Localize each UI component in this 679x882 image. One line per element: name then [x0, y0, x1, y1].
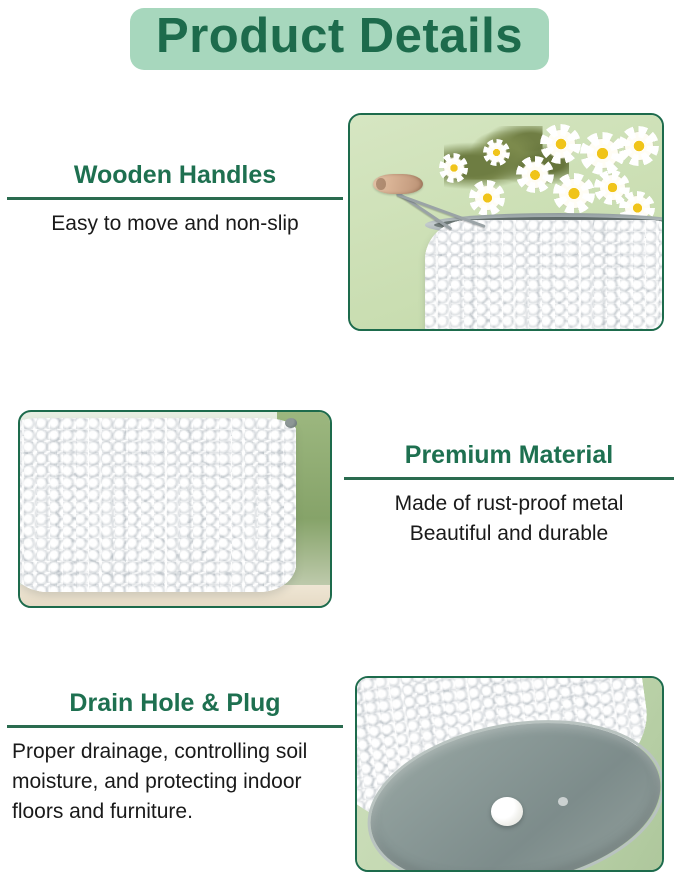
section-1-divider	[7, 197, 343, 200]
section-3-photo	[355, 676, 664, 872]
daisy-flower	[559, 179, 589, 208]
section-1-body-line-1: Easy to move and non-slip	[7, 209, 343, 239]
section-1-photo	[348, 113, 664, 331]
section-3-body-line-2: moisture, and protecting indoor	[12, 767, 343, 797]
page-title: Product Details	[156, 11, 523, 63]
planter-with-daisies-image	[350, 115, 662, 329]
section-2-heading: Premium Material	[344, 440, 674, 470]
planter-body	[425, 220, 664, 331]
section-1-text-block: Wooden Handles Easy to move and non-slip	[7, 160, 343, 239]
drain-plug-image	[357, 678, 662, 870]
section-1-body: Easy to move and non-slip	[7, 209, 343, 239]
daisy-flower	[587, 139, 618, 169]
section-2-divider	[344, 477, 674, 480]
section-2-photo	[18, 410, 332, 608]
daisy-flower	[487, 143, 506, 162]
section-3-body-line-1: Proper drainage, controlling soil	[12, 737, 343, 767]
hammered-texture	[425, 220, 664, 331]
section-3-heading: Drain Hole & Plug	[7, 688, 343, 718]
daisy-flower	[600, 175, 625, 200]
planter-body	[18, 418, 296, 593]
section-2-body-line-1: Made of rust-proof metal	[344, 489, 674, 519]
drain-plug	[491, 797, 523, 826]
section-2-text-block: Premium Material Made of rust-proof meta…	[344, 440, 674, 549]
hammered-metal-closeup-image	[20, 412, 330, 606]
section-2-body: Made of rust-proof metal Beautiful and d…	[344, 489, 674, 549]
section-3-body: Proper drainage, controlling soil moistu…	[7, 737, 343, 826]
page-header: Product Details	[0, 0, 679, 96]
daisy-flower	[547, 130, 575, 158]
section-3-text-block: Drain Hole & Plug Proper drainage, contr…	[7, 688, 343, 826]
hammered-texture	[18, 418, 296, 593]
daisy-flower	[475, 186, 500, 211]
section-2-body-line-2: Beautiful and durable	[344, 519, 674, 549]
daisy-flower	[444, 158, 464, 178]
daisy-flower	[625, 132, 653, 160]
section-1-heading: Wooden Handles	[7, 160, 343, 190]
header-banner: Product Details	[130, 8, 549, 70]
section-3-body-line-3: floors and furniture.	[12, 797, 343, 827]
section-3-divider	[7, 725, 343, 728]
daisy-flower	[522, 162, 549, 188]
base-highlight	[558, 797, 568, 806]
wooden-handle-grip	[373, 174, 423, 194]
product-details-page: Product Details Wooden Handles Easy to m…	[0, 0, 679, 882]
